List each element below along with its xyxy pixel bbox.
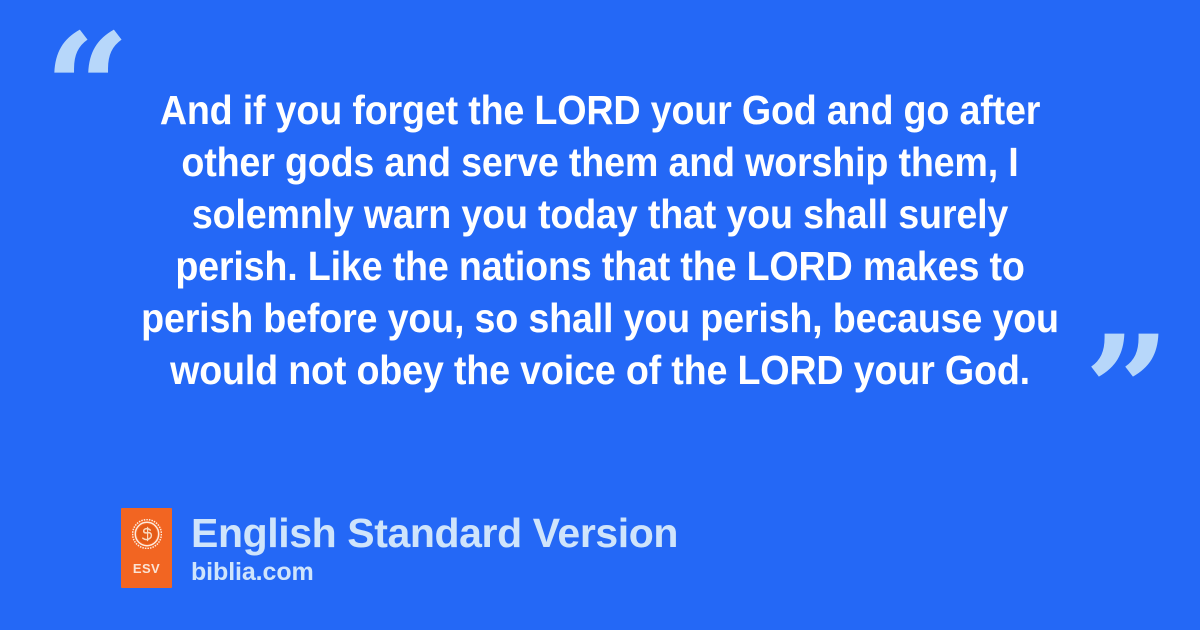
esv-seal-icon (132, 519, 162, 549)
translation-title: English Standard Version (191, 510, 678, 556)
verse-image-card: “ And if you forget the LORD your God an… (0, 0, 1200, 630)
brand-text-block: English Standard Version biblia.com (191, 508, 678, 586)
attribution-footer: ESV English Standard Version biblia.com (121, 508, 678, 588)
esv-logo: ESV (121, 508, 172, 588)
esv-logo-label: ESV (133, 562, 160, 575)
verse-text: And if you forget the LORD your God and … (135, 84, 1065, 396)
site-url[interactable]: biblia.com (191, 558, 678, 586)
closing-quote-icon: ” (1084, 316, 1170, 466)
opening-quote-icon: “ (44, 14, 130, 164)
